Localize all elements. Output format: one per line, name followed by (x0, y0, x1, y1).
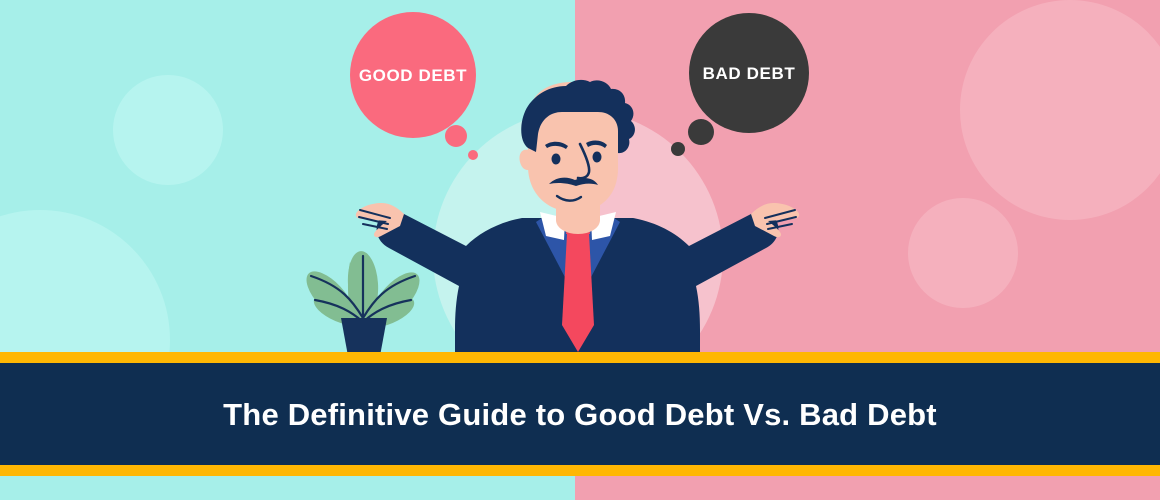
background-circle-left-large (113, 75, 223, 185)
banner-illustration: GOOD DEBT BAD DEBT The Definitive Guide … (0, 0, 1160, 500)
eye-left (552, 154, 561, 165)
footer-stripe-top (0, 352, 1160, 363)
good-debt-label: GOOD DEBT (359, 66, 467, 85)
banner-root: GOOD DEBT BAD DEBT The Definitive Guide … (0, 0, 1160, 500)
good-debt-trail-1 (445, 125, 467, 147)
good-debt-trail-2 (468, 150, 478, 160)
eye-right (593, 152, 602, 163)
footer-banner: The Definitive Guide to Good Debt Vs. Ba… (0, 352, 1160, 476)
background-circle-right-small (908, 198, 1018, 308)
bad-debt-label: BAD DEBT (703, 64, 796, 83)
footer-stripe-bottom (0, 465, 1160, 476)
page-title: The Definitive Guide to Good Debt Vs. Ba… (223, 397, 937, 432)
bad-debt-trail-2 (671, 142, 685, 156)
plant-pot (341, 318, 387, 356)
bad-debt-trail-1 (688, 119, 714, 145)
